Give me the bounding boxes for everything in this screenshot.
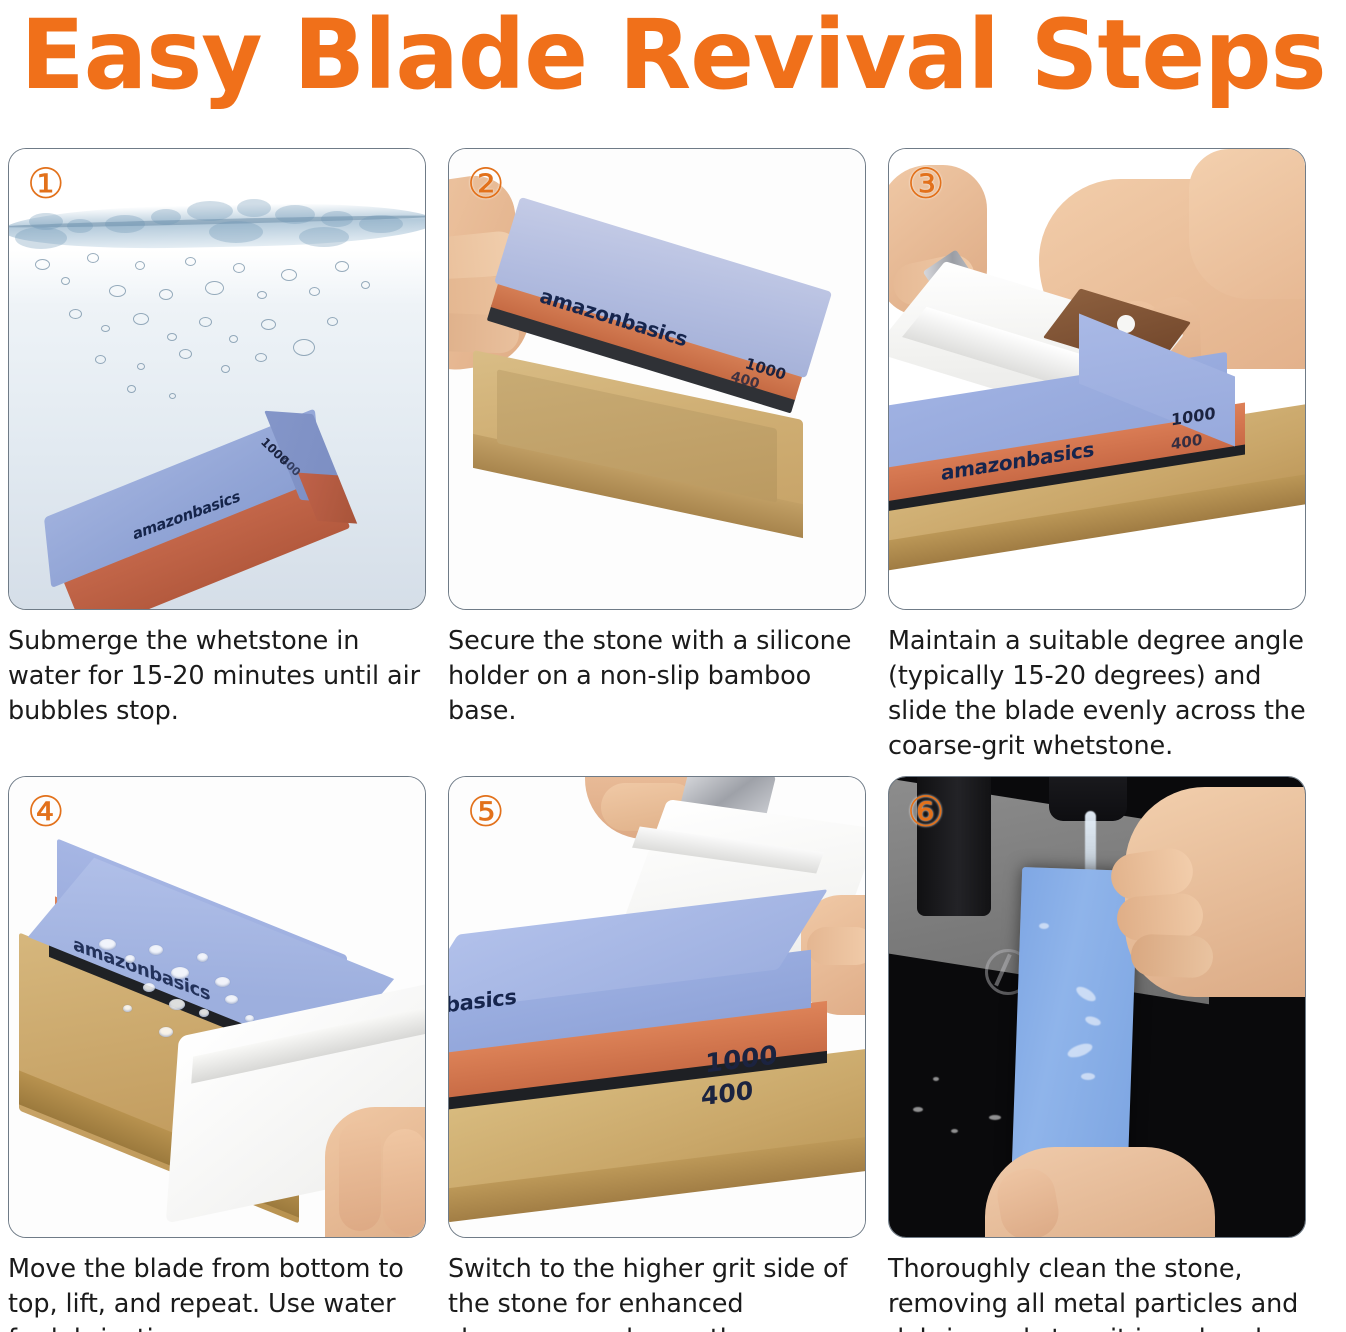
- step-caption-5: Switch to the higher grit side of the st…: [448, 1252, 872, 1332]
- step-caption-3: Maintain a suitable degree angle (typica…: [888, 624, 1320, 764]
- step-card-5: basics 1000 400 ⑤ Switch to the higher g…: [448, 776, 866, 1332]
- step-card-6: ⑥ Thoroughly clean the stone, removing a…: [888, 776, 1306, 1332]
- scene-secure-base: amazonbasics 1000 400: [449, 149, 865, 609]
- step-badge-6: ⑥: [907, 791, 945, 833]
- scene-rinse-stone: [889, 777, 1305, 1237]
- step-image-1: amazonbasics 1000 400 ①: [8, 148, 426, 610]
- step-badge-2: ②: [467, 163, 505, 205]
- step-image-2: amazonbasics 1000 400 ②: [448, 148, 866, 610]
- scene-higher-grit: basics 1000 400: [449, 777, 865, 1237]
- step-image-3: amazonbasics 1000 400 ③: [888, 148, 1306, 610]
- step-caption-1: Submerge the whetstone in water for 15-2…: [8, 624, 432, 729]
- scene-submerge: amazonbasics 1000 400: [9, 149, 425, 609]
- step-card-3: amazonbasics 1000 400 ③ Maintain a suita…: [888, 148, 1306, 764]
- step-card-4: amazonbasics: [8, 776, 426, 1332]
- step-badge-5: ⑤: [467, 791, 505, 833]
- step-caption-2: Secure the stone with a silicone holder …: [448, 624, 872, 729]
- scene-wet-stone: amazonbasics: [9, 777, 425, 1237]
- step-badge-1: ①: [27, 163, 65, 205]
- steps-grid: amazonbasics 1000 400 ① Submerge the whe…: [8, 148, 1338, 1332]
- step-card-2: amazonbasics 1000 400 ② Secure the stone…: [448, 148, 866, 764]
- step-card-1: amazonbasics 1000 400 ① Submerge the whe…: [8, 148, 426, 764]
- step-image-5: basics 1000 400 ⑤: [448, 776, 866, 1238]
- step-image-4: amazonbasics: [8, 776, 426, 1238]
- step-badge-4: ④: [27, 791, 65, 833]
- infographic-page: Easy Blade Revival Steps: [0, 0, 1346, 1332]
- step-caption-4: Move the blade from bottom to top, lift,…: [8, 1252, 432, 1332]
- scene-sharpen-angle: amazonbasics 1000 400: [889, 149, 1305, 609]
- step-badge-3: ③: [907, 163, 945, 205]
- page-title: Easy Blade Revival Steps: [13, 0, 1332, 116]
- step-image-6: ⑥: [888, 776, 1306, 1238]
- step-caption-6: Thoroughly clean the stone, removing all…: [888, 1252, 1328, 1332]
